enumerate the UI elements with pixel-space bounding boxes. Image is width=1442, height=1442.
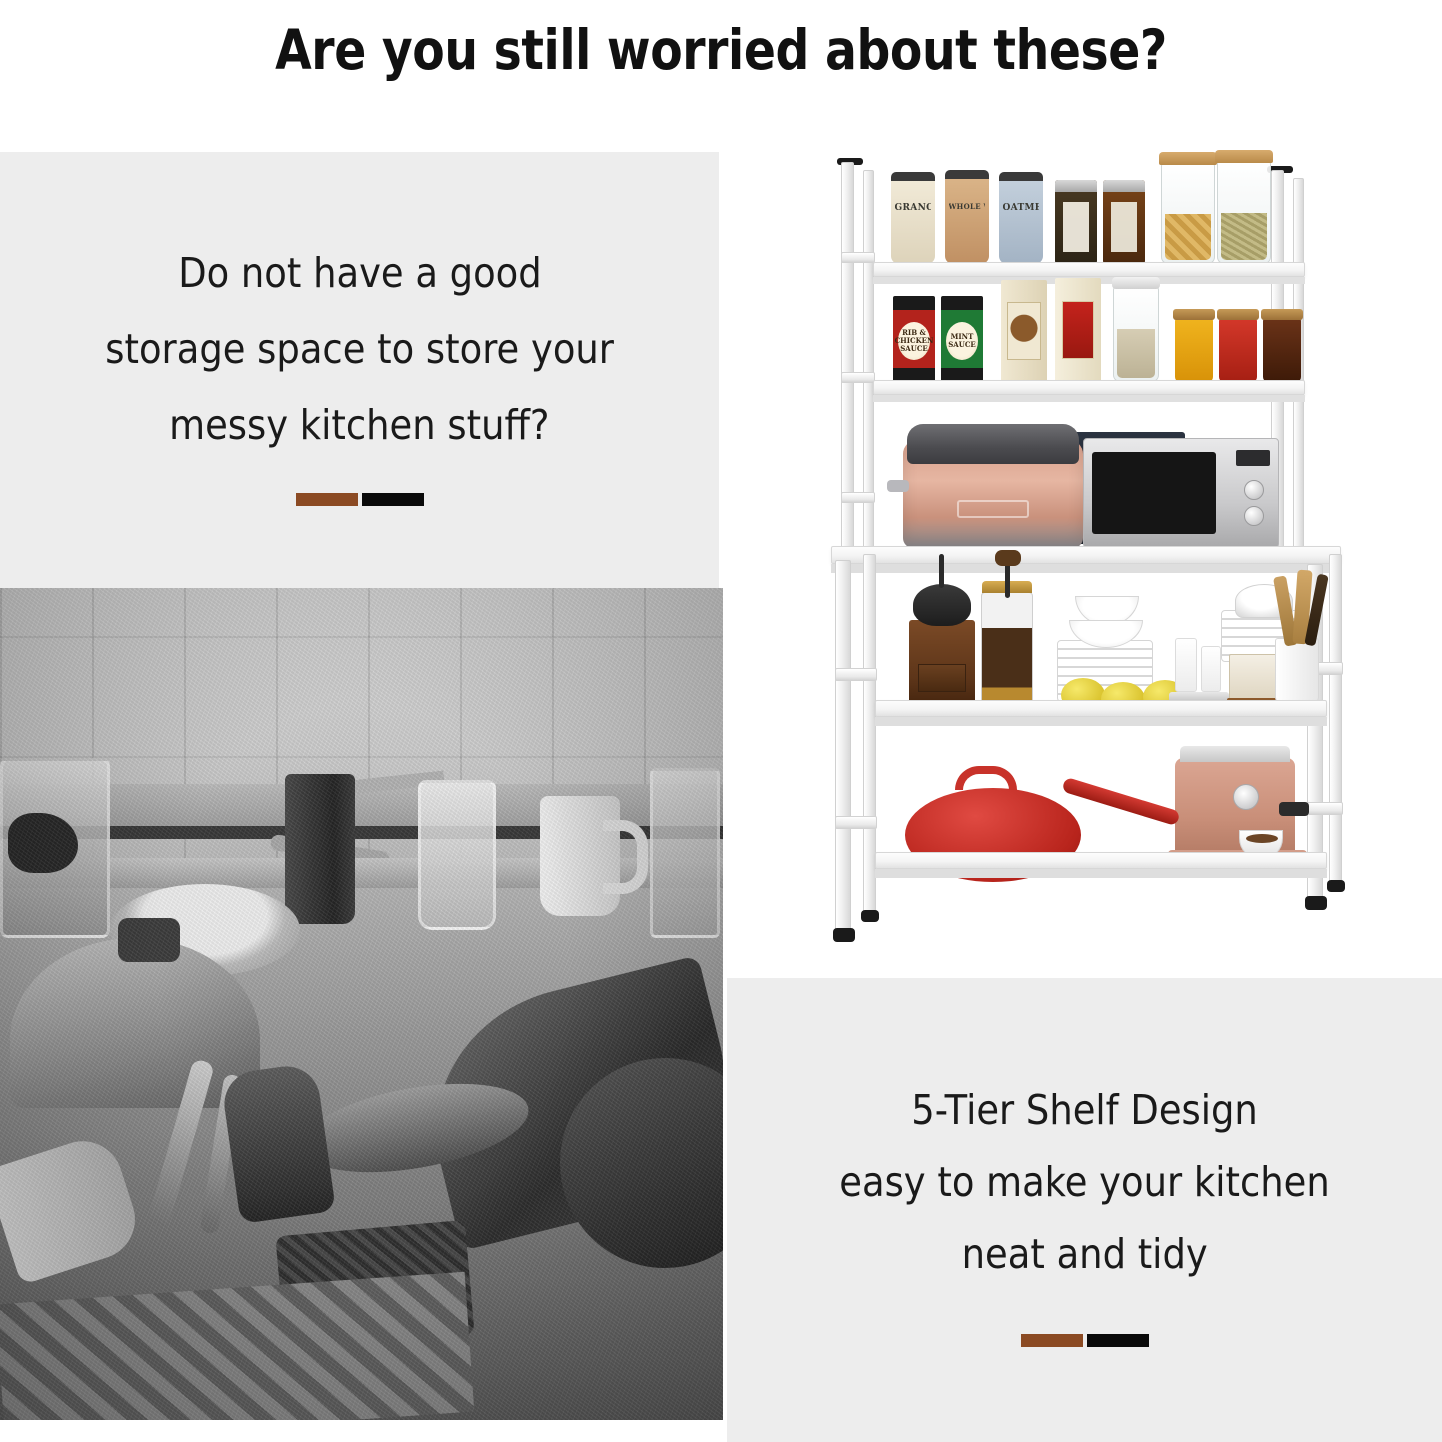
solution-line-2: easy to make your kitchen [839, 1146, 1329, 1218]
divider-bar-brown [1021, 1334, 1083, 1347]
canister-granola: GRANOLA [891, 172, 935, 264]
problem-line-3: messy kitchen stuff? [169, 387, 549, 463]
foot-front-left [833, 928, 855, 942]
package-cream-1 [1001, 280, 1047, 382]
rice-cooker-lid [907, 424, 1080, 464]
jar-clamp-lid [1112, 277, 1160, 289]
problem-line-1: Do not have a good [178, 235, 541, 311]
divider-bar-black [362, 493, 424, 506]
glass-jar-flour [1113, 286, 1159, 382]
microwave [1083, 438, 1279, 548]
spice-jar-dark [1263, 318, 1301, 382]
jar-grain-fill [1221, 213, 1267, 260]
base-side-rail-left-upper [835, 668, 877, 681]
foot-front-right [1305, 896, 1327, 910]
foot-back-right [1327, 880, 1345, 892]
sauce-box-rib-chicken-label: RIB & CHICKEN SAUCE [898, 322, 930, 360]
jar-metal-lid [1055, 180, 1097, 192]
jar-wooden-lid [1215, 150, 1273, 163]
solution-divider [1021, 1334, 1149, 1347]
condiment-bottle-2 [1201, 646, 1221, 692]
shelf-board-tier-3 [831, 546, 1341, 564]
rice-cooker [903, 440, 1083, 548]
glass-jar-pasta [1161, 162, 1215, 264]
spice-jar-yellow [1175, 318, 1213, 382]
base-side-rail-left-lower [835, 816, 877, 829]
utensil-holder [1275, 638, 1319, 704]
base-side-rail-right-lower [1307, 802, 1343, 815]
solution-line-3: neat and tidy [961, 1218, 1207, 1290]
sauce-box-mint-label: MINT SAUCE [946, 322, 978, 360]
rice-cooker-handle [887, 480, 909, 492]
jar-wooden-lid [1159, 152, 1217, 165]
divider-bar-brown [296, 493, 358, 506]
microwave-door [1092, 452, 1216, 534]
sauce-box-mint: MINT SAUCE [941, 296, 983, 382]
canister-lid [945, 170, 989, 179]
shelf-board-tier-3-edge [831, 564, 1341, 573]
espresso-group-head [1279, 802, 1309, 816]
jar-metal-lid [1103, 180, 1145, 192]
problem-divider [296, 493, 424, 506]
microwave-display [1236, 450, 1270, 466]
french-press-knob [995, 550, 1021, 566]
grinder-small [1229, 654, 1281, 702]
base-post-back-right [1329, 554, 1342, 884]
canister-oatmeal-label: OATMEAL [1003, 203, 1040, 213]
canister-lid [891, 172, 935, 181]
package-graphic [1007, 302, 1040, 359]
hutch-side-rail-mid [841, 372, 875, 383]
shelf-board-tier-1 [873, 262, 1305, 277]
divider-bar-black [1087, 1334, 1149, 1347]
spice-jar-lid [1217, 309, 1259, 320]
problem-statement-panel: Do not have a good storage space to stor… [0, 152, 719, 588]
shelf-board-tier-4 [875, 700, 1327, 717]
solution-statement-panel: 5-Tier Shelf Design easy to make your ki… [727, 978, 1442, 1442]
frying-pan-handle [1061, 777, 1180, 826]
package-graphic [1062, 301, 1093, 359]
base-post-front-left [835, 560, 851, 932]
shelf-board-tier-5-edge [875, 869, 1327, 878]
rice-cooker-badge [957, 500, 1029, 517]
canister-oatmeal: OATMEAL [999, 172, 1043, 264]
messy-kitchen-photo [0, 588, 723, 1420]
product-shelf-photo: GRANOLA WHOLE WHEAT OATMEAL RIB & CHICKE… [723, 140, 1442, 978]
spice-jar-lid [1261, 309, 1303, 320]
coffee-grinder-crank [939, 554, 944, 588]
jar-paper-label [1111, 202, 1138, 252]
microwave-knob-upper [1244, 480, 1264, 500]
jar-dark-1 [1055, 180, 1097, 264]
shelf-board-tier-2 [873, 380, 1305, 395]
shelf-board-tier-2-edge [873, 395, 1305, 402]
foot-back-left [861, 910, 879, 922]
french-press [981, 592, 1033, 704]
canister-granola-label: GRANOLA [895, 203, 932, 213]
canister-whole-wheat-label: WHOLE WHEAT [949, 202, 986, 211]
hutch-post-back-left [863, 170, 874, 562]
hutch-side-rail-upper [841, 252, 875, 263]
hutch-side-rail-lower [841, 492, 875, 503]
solution-line-1: 5-Tier Shelf Design [911, 1074, 1258, 1146]
glass-jar-grains [1217, 160, 1271, 264]
jar-paper-label [1063, 202, 1090, 252]
microwave-knob-lower [1244, 506, 1264, 526]
package-cream-2 [1055, 278, 1101, 382]
sauce-box-rib-chicken: RIB & CHICKEN SAUCE [893, 296, 935, 382]
coffee-grinder [909, 620, 975, 704]
frying-pan-lid-handle [955, 766, 1017, 790]
page-title: Are you still worried about these? [101, 18, 1341, 82]
shelf-board-tier-5 [875, 852, 1327, 869]
shelf-board-tier-4-edge [875, 717, 1327, 726]
problem-line-2: storage space to store your [105, 311, 614, 387]
canister-lid [999, 172, 1043, 181]
condiment-bottle-1 [1175, 638, 1197, 692]
photo-vignette [0, 588, 723, 1420]
coffee-grinder-dome [913, 584, 971, 626]
jar-flour-fill [1117, 329, 1155, 378]
canister-whole-wheat: WHOLE WHEAT [945, 170, 989, 264]
jar-pasta-fill [1165, 214, 1211, 260]
jar-dark-2 [1103, 180, 1145, 264]
espresso-machine-top [1180, 746, 1290, 762]
spice-jar-red [1219, 318, 1257, 382]
coffee-grinder-drawer [918, 664, 966, 693]
espresso-machine-dial [1233, 784, 1259, 810]
spice-jar-lid [1173, 309, 1215, 320]
